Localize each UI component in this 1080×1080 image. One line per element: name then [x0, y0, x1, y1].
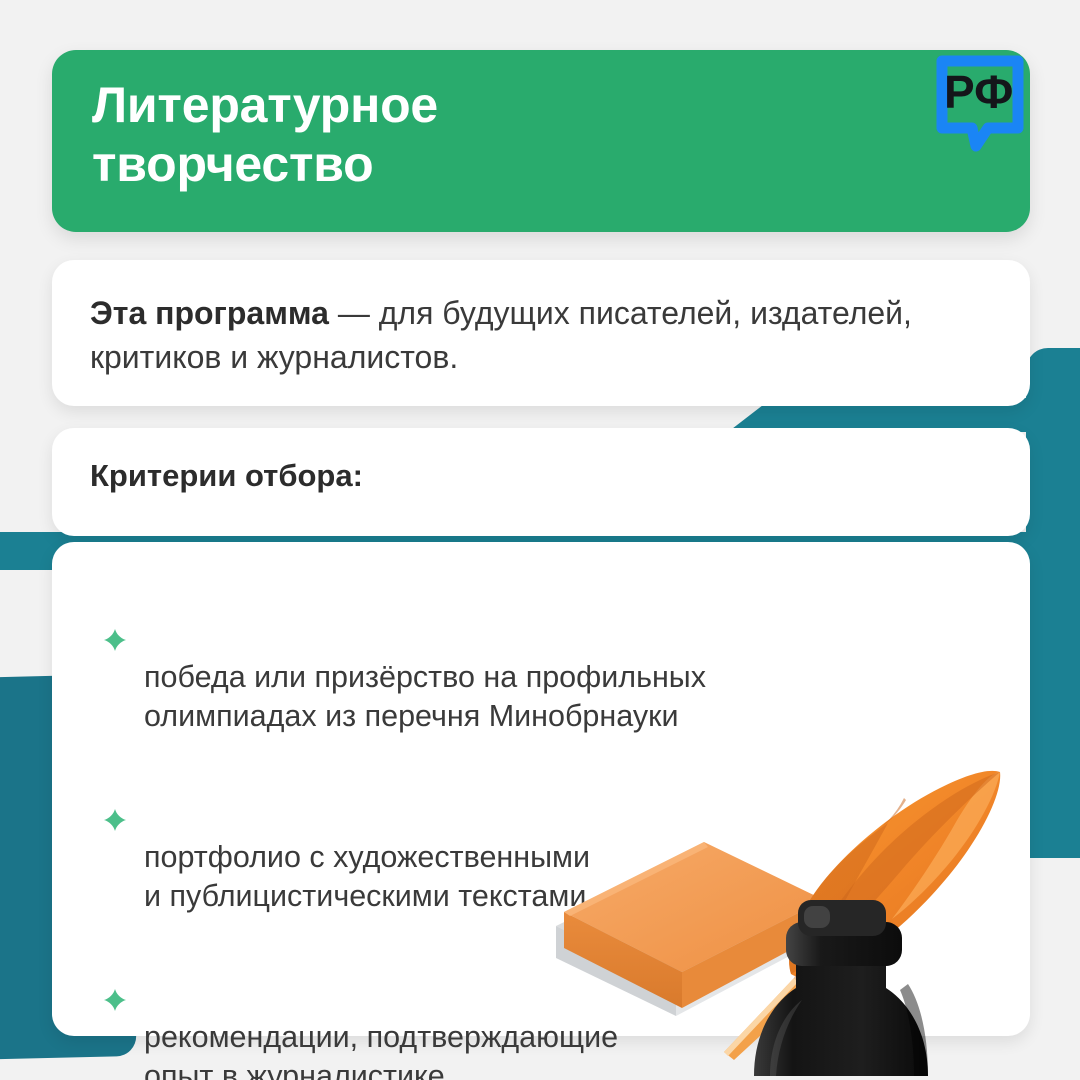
diamond-bullet-icon: [104, 950, 126, 972]
criteria-title-card: Критерии отбора:: [52, 428, 1030, 536]
teal-right-block: [1026, 348, 1080, 858]
page-title: Литературное творчество: [92, 76, 812, 194]
diamond-bullet-icon: [104, 770, 126, 792]
list-item-label: рекомендации, подтверждающие опыт в журн…: [144, 1020, 618, 1080]
list-item: победа или призёрство на профильных олим…: [52, 580, 1030, 736]
header-card: Литературное творчество: [52, 50, 1030, 232]
list-item-label: победа или призёрство на профильных олим…: [144, 660, 706, 733]
diamond-bullet-icon: [104, 590, 126, 612]
criteria-list-card: победа или призёрство на профильных олим…: [52, 542, 1030, 1036]
list-item-label: портфолио с художественными и публицисти…: [144, 840, 590, 913]
intro-text: Эта программа — для будущих писателей, и…: [90, 292, 990, 379]
rf-logo-text: РФ: [944, 66, 1013, 118]
criteria-title: Критерии отбора:: [90, 458, 363, 494]
criteria-list: победа или призёрство на профильных олим…: [52, 580, 1030, 1080]
list-item: портфолио с художественными и публицисти…: [52, 760, 1030, 916]
intro-bold-lead: Эта программа: [90, 295, 329, 331]
intro-dash: —: [329, 295, 379, 331]
rf-logo: РФ: [928, 42, 1032, 168]
intro-card: Эта программа — для будущих писателей, и…: [52, 260, 1030, 406]
poster-root: Литературное творчество РФ Эта программа…: [0, 0, 1080, 1080]
list-item: рекомендации, подтверждающие опыт в журн…: [52, 940, 1030, 1080]
